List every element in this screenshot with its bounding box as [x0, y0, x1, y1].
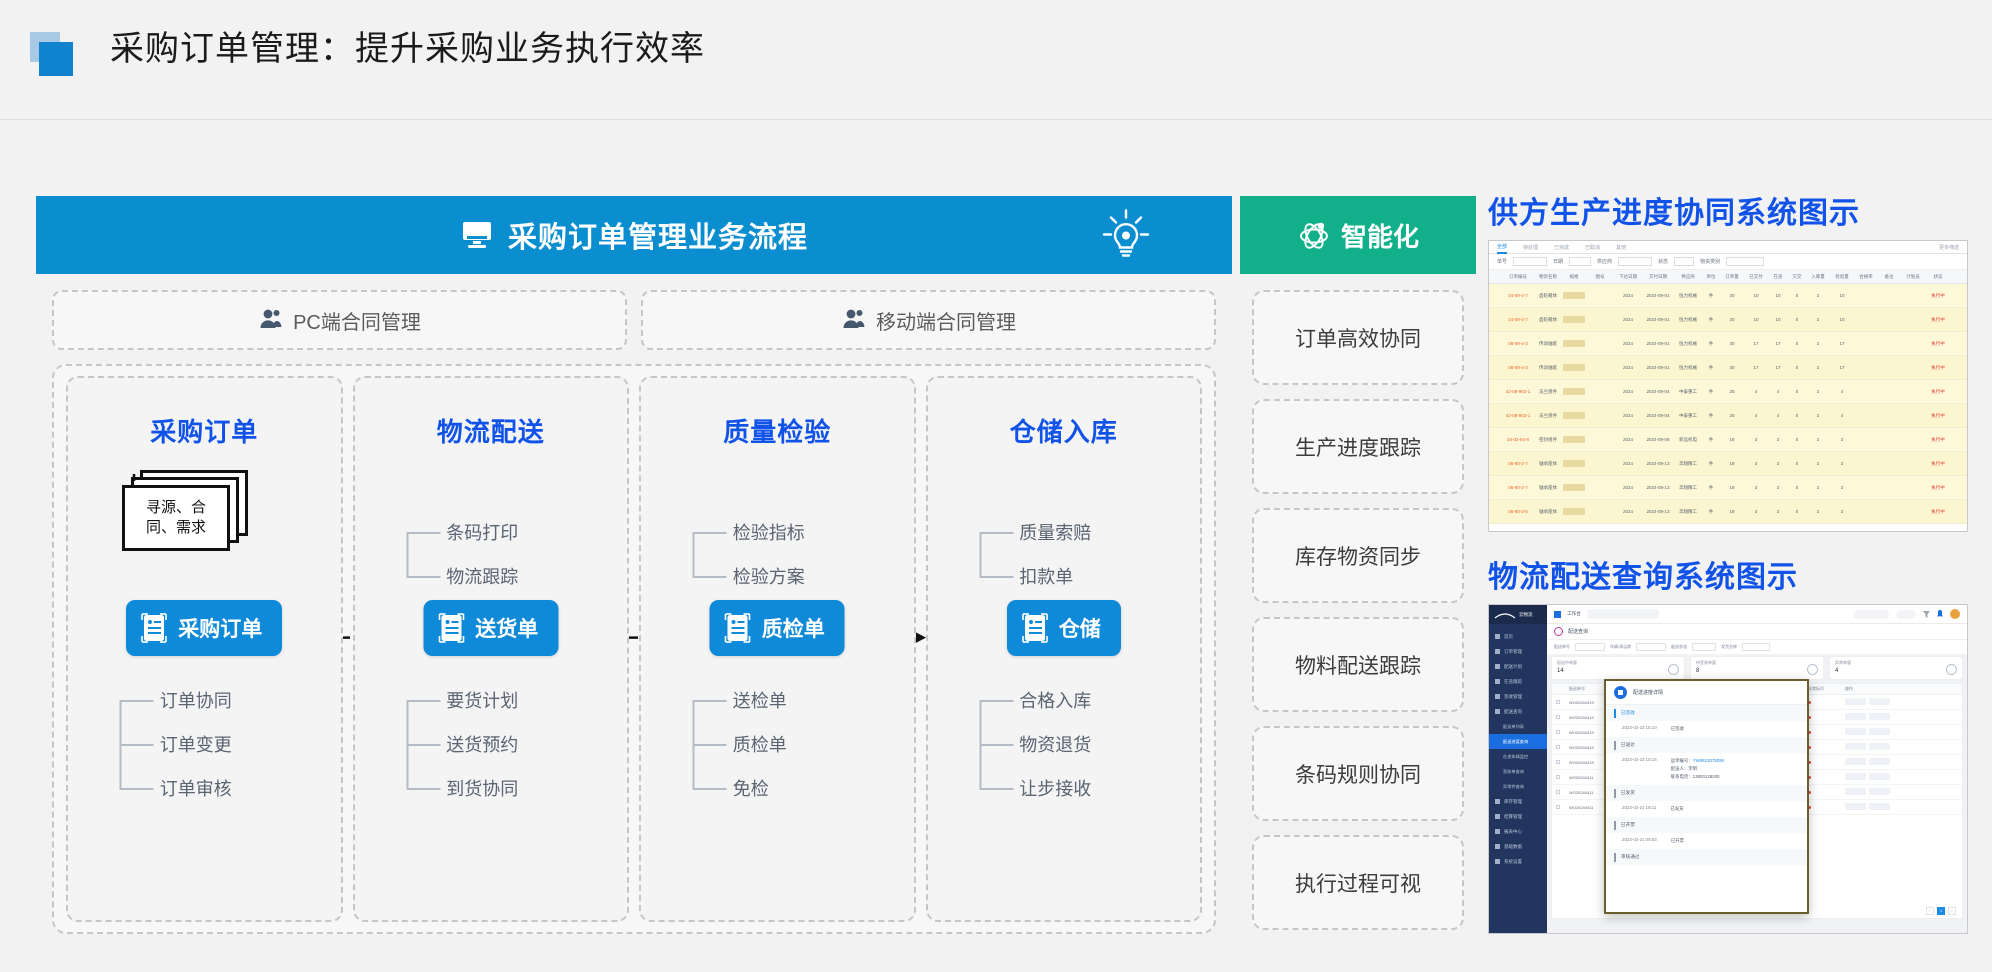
user-group-icon	[258, 307, 284, 333]
table-cell: 3	[1769, 437, 1787, 442]
mock1-tab[interactable]: 已取消	[1585, 241, 1600, 254]
mock1-filter-input[interactable]	[1569, 257, 1591, 266]
table-cell: 4	[1745, 413, 1767, 418]
timeline-detail: 已开票	[1671, 837, 1684, 845]
leaf-item[interactable]: 订单协同	[112, 678, 297, 722]
table-cell	[1563, 412, 1585, 420]
flow-node-label: 采购订单	[178, 613, 262, 643]
document-icon	[724, 612, 752, 644]
row-checkbox[interactable]	[1556, 760, 1566, 765]
mock2-avatar[interactable]	[1950, 609, 1960, 619]
sidebar-item[interactable]: 配送查询	[1489, 704, 1547, 719]
timeline-detail: 已发货	[1670, 805, 1683, 813]
mock1-col: 在途	[1769, 274, 1787, 280]
stage-title: 质量检验	[641, 412, 914, 449]
leaf-item[interactable]: 订单审核	[112, 766, 297, 810]
intelligent-header-title: 智能化	[1341, 217, 1419, 254]
check-circle-icon	[1807, 664, 1818, 675]
leaf-list-upper: 检验指标 检验方案	[685, 510, 870, 598]
row-actions[interactable]	[1845, 803, 1903, 811]
table-cell: 4	[1769, 389, 1787, 394]
supplier-progress-title: 供方生产进度协同系统图示	[1488, 188, 1968, 232]
table-cell: 4	[1831, 389, 1853, 394]
sidebar-item[interactable]: 签收单查询	[1489, 764, 1547, 779]
stage-title: 仓储入库	[928, 412, 1201, 449]
supplier-progress-panel: 供方生产进度协同系统图示 全部 待处理 已完成 已取消 其他 更多筛选 单号 日…	[1488, 188, 1968, 532]
page-header: 采购订单管理：提升采购业务执行效率	[0, 0, 1992, 120]
table-cell: 17	[1745, 341, 1767, 346]
mock1-filter-bar: 单号 日期 供应商 状态 物资类别	[1489, 254, 1967, 270]
stat-value: 14	[1557, 668, 1679, 674]
intelligent-item[interactable]: 库存物资同步	[1252, 508, 1464, 603]
document-icon	[437, 612, 465, 644]
sidebar-item[interactable]: 结算管理	[1489, 809, 1547, 824]
mock2-col: 操作	[1845, 686, 1903, 692]
timeline-time: 2023-03-23 15:10	[1622, 725, 1657, 733]
row-checkbox[interactable]	[1556, 775, 1566, 780]
table-cell: 件	[1703, 485, 1719, 491]
nav-icon	[1495, 709, 1500, 714]
flow-node-inspection-note[interactable]: 质检单	[710, 600, 845, 656]
intelligent-item[interactable]: 物料配送跟踪	[1252, 617, 1464, 712]
table-cell: 恒力机械	[1675, 317, 1701, 323]
table-cell: 法兰盘件	[1535, 413, 1561, 419]
table-cell: 3	[1831, 485, 1853, 490]
mock2-page-header: 配送查询	[1547, 624, 1967, 640]
table-cell: 中泰重工	[1675, 389, 1701, 395]
row-actions[interactable]	[1845, 728, 1903, 736]
sidebar-item-label: 订单管理	[1504, 649, 1522, 655]
leaf-list-lower: 合格入库 物资退货 让步接收	[971, 678, 1156, 810]
intelligent-item[interactable]: 执行过程可视	[1252, 835, 1464, 930]
row-actions[interactable]	[1845, 773, 1903, 781]
row-checkbox[interactable]	[1556, 700, 1566, 705]
table-cell: 新远机电	[1675, 437, 1701, 443]
intelligent-item[interactable]: 条码规则协同	[1252, 726, 1464, 821]
timeline-section: 已送达	[1606, 737, 1807, 753]
stat-label: 待签收单量	[1696, 660, 1818, 666]
table-cell: 42-08-902-1	[1503, 389, 1533, 394]
table-cell: 3	[1745, 485, 1767, 490]
flow-node-label: 质检单	[762, 613, 825, 643]
mock1-tab[interactable]: 其他	[1616, 241, 1626, 254]
table-cell: 20	[1721, 293, 1743, 298]
leaf-item[interactable]: 检验指标	[685, 510, 870, 554]
row-checkbox[interactable]	[1556, 745, 1566, 750]
timeline-entry: 2023-03-23 15:10已签收	[1606, 721, 1807, 737]
table-cell: 传动轴套	[1535, 341, 1561, 347]
timeline-state: 已签收	[1621, 710, 1635, 716]
timeline-marker	[1614, 789, 1616, 798]
table-cell: 恒力机械	[1675, 365, 1701, 371]
mock1-filter-input[interactable]	[1513, 257, 1547, 266]
row-actions[interactable]	[1845, 713, 1903, 721]
table-cell: 06-80-3-7	[1503, 461, 1533, 466]
row-checkbox[interactable]	[1556, 715, 1566, 720]
pager-page-current[interactable]: 1	[1937, 907, 1945, 915]
table-row[interactable]: 24-09-4-7齿轮箱体20242024-09-01恒力机械件20101002…	[1489, 284, 1967, 308]
table-cell: 执行中	[1927, 413, 1949, 419]
timeline-marker	[1614, 853, 1616, 862]
mock1-filter-input[interactable]	[1674, 257, 1694, 266]
table-row[interactable]: 34-02-84-8密封组件20242024-09-08新远机电件1633023…	[1489, 428, 1967, 452]
table-cell: 0	[1789, 341, 1805, 346]
contract-tab-mobile[interactable]: 移动端合同管理	[641, 290, 1216, 350]
mock2-logo-text: 云物流	[1519, 612, 1533, 618]
bell-icon[interactable]	[1937, 610, 1943, 618]
leaf-item[interactable]: 送检单	[685, 678, 870, 722]
table-cell: 10	[1831, 317, 1853, 322]
stat-value: 4	[1835, 668, 1957, 674]
mock1-col: 订单编号	[1503, 274, 1533, 280]
table-cell: 2	[1807, 413, 1829, 418]
intelligent-panel: 智能化 订单高效协同 生产进度跟踪 库存物资同步 物料配送跟踪 条码规则协同 执…	[1240, 196, 1476, 946]
leaf-list-lower: 送检单 质检单 免检	[685, 678, 870, 810]
table-cell: 件	[1703, 341, 1719, 347]
intelligent-item[interactable]: 生产进度跟踪	[1252, 399, 1464, 494]
table-cell: 执行中	[1927, 389, 1949, 395]
nav-icon	[1495, 844, 1500, 849]
table-cell: 2024-09-01	[1643, 341, 1673, 346]
table-cell: 件	[1703, 437, 1719, 443]
document-icon	[1021, 612, 1049, 644]
sidebar-item[interactable]: 签收管理	[1489, 689, 1547, 704]
stage-title: 物流配送	[355, 412, 628, 449]
timeline-entry: 2023-03-21 09:03已开票	[1606, 833, 1807, 849]
sidebar-item[interactable]: 首页	[1489, 629, 1547, 644]
table-cell: 2	[1807, 485, 1829, 490]
table-cell: 齿轮箱体	[1535, 293, 1561, 299]
mock2-stat-card[interactable]: 异常单量 4	[1829, 656, 1963, 680]
mock2-filter-label: 配送状态	[1671, 644, 1687, 650]
leaf-item[interactable]: 送货预约	[398, 722, 583, 766]
leaf-item[interactable]: 让步接收	[971, 766, 1156, 810]
sidebar-item-label: 配送单列表	[1503, 724, 1524, 730]
table-cell: 2024	[1615, 341, 1641, 346]
sidebar-item[interactable]: 系统设置	[1489, 854, 1547, 869]
timeline-state: 已送达	[1621, 742, 1635, 748]
table-cell: 17	[1769, 341, 1787, 346]
table-cell: 轴承座体	[1535, 509, 1561, 515]
timeline-section: 已签收	[1606, 705, 1807, 721]
leaf-item[interactable]: 免检	[685, 766, 870, 810]
table-cell: 执行中	[1927, 341, 1949, 347]
table-cell: 件	[1703, 293, 1719, 299]
modal-title: 配送进度详情	[1633, 689, 1663, 696]
mock2-stat-cards: 配送中单量 14 待签收单量 8 异常单量 4	[1551, 656, 1963, 680]
sidebar-item[interactable]: 配送单列表	[1489, 719, 1547, 734]
document-icon	[140, 612, 168, 644]
row-actions[interactable]	[1845, 758, 1903, 766]
table-cell: 0	[1789, 485, 1805, 490]
table-row[interactable]: 24-09-4-7齿轮箱体20242024-09-01恒力机械件20101002…	[1489, 308, 1967, 332]
mock1-filter-input[interactable]	[1726, 257, 1764, 266]
flow-node-label: 仓储	[1059, 613, 1101, 643]
mock1-more-filters[interactable]: 更多筛选	[1939, 244, 1959, 251]
monitor-icon	[460, 220, 494, 250]
table-cell: 3	[1745, 509, 1767, 514]
nav-icon	[1495, 799, 1500, 804]
contract-tab-pc-label: PC端合同管理	[293, 306, 421, 335]
table-cell: 密封组件	[1535, 437, 1561, 443]
timeline-time: 2023-03-21 18:11	[1622, 805, 1656, 813]
row-actions[interactable]	[1845, 743, 1903, 751]
table-cell: 18	[1721, 461, 1743, 466]
mock2-stat-card[interactable]: 待签收单量 8	[1690, 656, 1824, 680]
mock1-col: 已交付	[1745, 274, 1767, 280]
mock2-progress-modal[interactable]: 配送进度详情 已签收2023-03-23 15:10已签收已送达2023-03-…	[1604, 679, 1809, 914]
table-row[interactable]: 08-09-4-3传动轴套20242024-09-01恒力机械件30171702…	[1489, 356, 1967, 380]
page-title: 采购订单管理：提升采购业务执行效率	[110, 25, 705, 73]
table-cell: 25	[1721, 413, 1743, 418]
modal-timeline: 已签收2023-03-23 15:10已签收已送达2023-03-23 10:1…	[1606, 705, 1807, 865]
sidebar-item[interactable]: 基础数据	[1489, 839, 1547, 854]
mock1-col: 状态	[1927, 274, 1949, 280]
table-row[interactable]: 42-08-902-1法兰盘件20242024-09-04中泰重工件254402…	[1489, 380, 1967, 404]
leaf-item[interactable]: 检验方案	[685, 554, 870, 598]
mock1-filter-input[interactable]	[1618, 257, 1652, 266]
check-circle-icon	[1946, 664, 1957, 675]
stage-title: 采购订单	[68, 412, 341, 449]
timeline-state: 已开票	[1621, 822, 1635, 828]
nav-icon	[1495, 829, 1500, 834]
exception-indicator	[1808, 790, 1842, 795]
table-cell: 中泰重工	[1675, 413, 1701, 419]
pager-next[interactable]: ›	[1948, 907, 1956, 915]
flow-node-delivery-note[interactable]: 送货单	[423, 600, 558, 656]
row-actions[interactable]	[1845, 788, 1903, 796]
table-cell: 2	[1807, 341, 1829, 346]
sidebar-item-label: 签收管理	[1504, 694, 1522, 700]
logistics-query-title: 物流配送查询系统图示	[1488, 552, 1968, 596]
mock2-stat-card[interactable]: 配送中单量 14	[1551, 656, 1685, 680]
flow-body: PC端合同管理 移动端合同管理	[36, 274, 1232, 946]
leaf-item[interactable]: 质检单	[685, 722, 870, 766]
sidebar-item-label: 基础数据	[1504, 844, 1522, 850]
sidebar-item[interactable]: 库存管理	[1489, 794, 1547, 809]
table-row[interactable]: 06-80-3-7轴承座体20242024-08-13华翔精工件1833023执…	[1489, 452, 1967, 476]
mock2-filter-label: 配送单号	[1554, 644, 1570, 650]
timeline-marker	[1614, 741, 1616, 750]
table-cell: 2024	[1615, 293, 1641, 298]
table-cell: 执行中	[1927, 317, 1949, 323]
row-checkbox[interactable]	[1556, 730, 1566, 735]
mock2-logo: 云物流	[1489, 605, 1547, 624]
timeline-marker	[1614, 709, 1616, 718]
mock2-filter-label: 车辆/承运商	[1610, 644, 1631, 650]
timeline-state: 审核通过	[1621, 854, 1639, 860]
table-cell: 17	[1769, 365, 1787, 370]
sidebar-item[interactable]: 订单管理	[1489, 644, 1547, 659]
exception-indicator	[1808, 775, 1842, 780]
leaf-item[interactable]: 要货计划	[398, 678, 583, 722]
stat-label: 异常单量	[1835, 660, 1957, 666]
mock2-filter-select[interactable]	[1692, 643, 1716, 651]
sidebar-item[interactable]: 配送进度查询	[1489, 734, 1547, 749]
leaf-item[interactable]: 到货协同	[398, 766, 583, 810]
table-cell: 4	[1769, 413, 1787, 418]
table-cell: 0	[1789, 317, 1805, 322]
table-cell: 执行中	[1927, 461, 1949, 467]
stage-column-quality-inspection: 质量检验 检验指标 检验方案	[639, 376, 916, 922]
table-cell: 执行中	[1927, 293, 1949, 299]
mock1-table-body: 24-09-4-7齿轮箱体20242024-09-01恒力机械件20101002…	[1489, 284, 1967, 524]
mock2-sidebar: 云物流 首页订单管理配送计划在途跟踪签收管理配送查询配送单列表配送进度查询在途车…	[1489, 605, 1547, 933]
mock1-tab[interactable]: 全部	[1497, 241, 1507, 254]
contract-tab-mobile-label: 移动端合同管理	[876, 306, 1016, 335]
leaf-list-lower: 订单协同 订单变更 订单审核	[112, 678, 297, 810]
table-cell	[1563, 316, 1585, 324]
pager-prev[interactable]: ‹	[1926, 907, 1934, 915]
mock2-filter-bar: 配送单号 车辆/承运商 配送状态 发货仓库	[1547, 640, 1967, 654]
mock1-col: 检验量	[1831, 274, 1853, 280]
nav-icon	[1495, 679, 1500, 684]
sidebar-item-label: 库存管理	[1504, 799, 1522, 805]
table-cell: 30	[1721, 341, 1743, 346]
sidebar-item-label: 配送进度查询	[1503, 739, 1528, 745]
row-checkbox[interactable]	[1556, 805, 1566, 810]
leaf-item[interactable]: 条码打印	[398, 510, 583, 554]
timeline-section: 已发货	[1606, 785, 1807, 801]
lightbulb-icon	[1098, 205, 1154, 266]
mock1-tab[interactable]: 待处理	[1523, 241, 1538, 254]
mock2-action-new[interactable]	[1853, 610, 1889, 619]
leaf-item[interactable]: 扣款单	[971, 554, 1156, 598]
table-row[interactable]: 06-80-3-5轴承座体20242024-08-13华翔精工件1833023执…	[1489, 500, 1967, 524]
table-cell: 2	[1807, 437, 1829, 442]
mock1-filter-label: 供应商	[1597, 258, 1612, 265]
flow-header-title: 采购订单管理业务流程	[508, 214, 808, 256]
flow-node-warehouse[interactable]: 仓储	[1007, 600, 1121, 656]
row-actions[interactable]	[1845, 698, 1903, 706]
table-cell: 2	[1807, 365, 1829, 370]
mock2-search-input[interactable]	[1587, 609, 1659, 619]
table-cell: 0	[1789, 389, 1805, 394]
sidebar-item[interactable]: 在途车辆监控	[1489, 749, 1547, 764]
table-cell: 42-08-902-1	[1503, 413, 1533, 418]
mock2-filter-select[interactable]	[1742, 643, 1770, 651]
leaf-list-upper: 质量索赔 扣款单	[971, 510, 1156, 598]
row-checkbox[interactable]	[1556, 790, 1566, 795]
mock2-filter-input[interactable]	[1575, 643, 1605, 651]
timeline-entry: 2023-03-21 18:11已发货	[1606, 801, 1807, 817]
sidebar-item[interactable]: 异常件查询	[1489, 779, 1547, 794]
intelligent-header: 智能化	[1240, 196, 1476, 274]
mock2-action-export[interactable]	[1896, 610, 1916, 619]
table-cell	[1563, 364, 1585, 372]
source-card-line1: 寻源、合	[146, 499, 206, 516]
exception-indicator	[1808, 745, 1842, 750]
logistics-query-screenshot[interactable]: 云物流 首页订单管理配送计划在途跟踪签收管理配送查询配送单列表配送进度查询在途车…	[1488, 604, 1968, 934]
table-cell: 0	[1789, 293, 1805, 298]
table-cell: 24-09-4-7	[1503, 317, 1533, 322]
sidebar-item-label: 报表中心	[1504, 829, 1522, 835]
table-cell: 华翔精工	[1675, 509, 1701, 515]
leaf-item[interactable]: 质量索赔	[971, 510, 1156, 554]
supplier-progress-screenshot[interactable]: 全部 待处理 已完成 已取消 其他 更多筛选 单号 日期 供应商 状态 物资类别	[1488, 240, 1968, 532]
table-cell: 2024	[1615, 485, 1641, 490]
logistics-query-panel: 物流配送查询系统图示 云物流 首页订单管理配送计划在途跟踪签收管理配送查询配送单…	[1488, 552, 1968, 934]
table-row[interactable]: 06-80-3-7轴承座体20242024-08-13华翔精工件1833023执…	[1489, 476, 1967, 500]
mock2-topbar: 工作台	[1547, 605, 1967, 624]
table-row[interactable]: 08-09-4-3传动轴套20242024-09-01恒力机械件30171702…	[1489, 332, 1967, 356]
stage-column-logistics: 物流配送 条码打印 物流跟踪	[353, 376, 630, 922]
contract-tab-pc[interactable]: PC端合同管理	[52, 290, 627, 350]
sidebar-item-label: 首页	[1504, 634, 1513, 640]
exception-indicator	[1808, 715, 1842, 720]
stat-label: 配送中单量	[1557, 660, 1679, 666]
table-cell: 3	[1769, 509, 1787, 514]
mock1-col: 入库量	[1807, 274, 1829, 280]
table-cell: 06-80-3-7	[1503, 485, 1533, 490]
table-cell: 10	[1745, 293, 1767, 298]
sidebar-item[interactable]: 在途跟踪	[1489, 674, 1547, 689]
mock1-tab[interactable]: 已完成	[1554, 241, 1569, 254]
sidebar-item-label: 系统设置	[1504, 859, 1522, 865]
atom-icon	[1297, 218, 1331, 252]
table-cell: 2	[1807, 509, 1829, 514]
nav-icon	[1495, 859, 1500, 864]
table-cell: 17	[1745, 365, 1767, 370]
nav-icon	[1495, 634, 1500, 639]
mock2-filter-label: 发货仓库	[1721, 644, 1737, 650]
sidebar-item[interactable]: 报表中心	[1489, 824, 1547, 839]
table-cell: 3	[1769, 461, 1787, 466]
mock2-filter-input[interactable]	[1636, 643, 1666, 651]
filter-icon[interactable]	[1923, 611, 1930, 618]
table-cell: 恒力机械	[1675, 341, 1701, 347]
table-cell: 2024	[1615, 461, 1641, 466]
sidebar-item-label: 配送计划	[1504, 664, 1522, 670]
table-cell: 08-09-4-3	[1503, 341, 1533, 346]
exception-indicator	[1808, 805, 1842, 810]
table-cell: 0	[1789, 413, 1805, 418]
leaf-item[interactable]: 合格入库	[971, 678, 1156, 722]
nav-icon	[1495, 664, 1500, 669]
table-row[interactable]: 42-08-902-1法兰盘件20242024-09-04中泰重工件254402…	[1489, 404, 1967, 428]
business-flow-panel: 采购订单管理业务流程	[36, 196, 1232, 946]
table-cell: 2	[1807, 461, 1829, 466]
sidebar-item-label: 异常件查询	[1503, 784, 1524, 790]
table-cell	[1563, 388, 1585, 396]
sidebar-item[interactable]: 配送计划	[1489, 659, 1547, 674]
sidebar-item-label: 签收单查询	[1503, 769, 1524, 775]
table-cell: 2024-09-04	[1643, 389, 1673, 394]
leaf-item[interactable]: 物流跟踪	[398, 554, 583, 598]
mock1-col: 备注	[1879, 274, 1899, 280]
table-cell: 件	[1703, 389, 1719, 395]
table-cell: 2024-08-13	[1643, 485, 1673, 490]
intelligent-item[interactable]: 订单高效协同	[1252, 290, 1464, 385]
leaf-list-lower: 要货计划 送货预约 到货协同	[398, 678, 583, 810]
table-cell: 30	[1721, 365, 1743, 370]
flow-node-purchase-order[interactable]: 采购订单	[126, 600, 282, 656]
mock1-col: 订单量	[1721, 274, 1743, 280]
table-cell: 4	[1831, 413, 1853, 418]
intelligent-items: 订单高效协同 生产进度跟踪 库存物资同步 物料配送跟踪 条码规则协同 执行过程可…	[1240, 274, 1476, 946]
leaf-item[interactable]: 订单变更	[112, 722, 297, 766]
table-cell: 0	[1789, 509, 1805, 514]
table-cell: 2024	[1615, 437, 1641, 442]
leaf-item[interactable]: 物资退货	[971, 722, 1156, 766]
table-cell: 2024	[1615, 365, 1641, 370]
table-cell: 4	[1745, 389, 1767, 394]
table-cell	[1563, 460, 1585, 468]
table-cell: 3	[1769, 485, 1787, 490]
table-cell: 执行中	[1927, 509, 1949, 515]
mock1-tab-bar: 全部 待处理 已完成 已取消 其他 更多筛选	[1489, 241, 1967, 254]
table-cell: 2024-09-01	[1643, 293, 1673, 298]
